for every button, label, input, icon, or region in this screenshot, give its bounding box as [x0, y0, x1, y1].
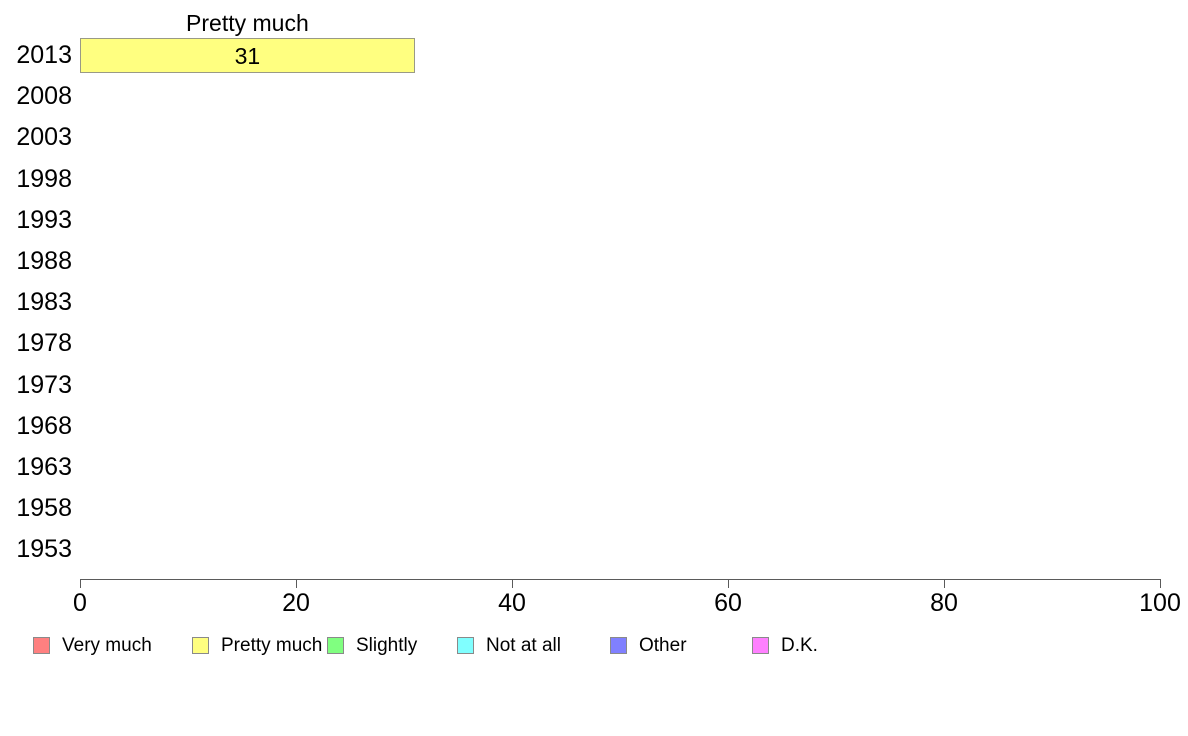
legend-item-d-k[interactable]: D.K. — [752, 630, 818, 660]
y-axis-label-1983: 1983 — [16, 290, 72, 315]
legend-item-not-at-all[interactable]: Not at all — [457, 630, 561, 660]
legend-swatch-icon — [752, 637, 769, 654]
x-tick-0 — [80, 579, 81, 588]
bar-value-label: 31 — [80, 45, 415, 68]
x-axis-line — [80, 579, 1161, 580]
y-axis-label-2003: 2003 — [16, 125, 72, 150]
legend-item-slightly[interactable]: Slightly — [327, 630, 417, 660]
x-tick-100 — [1160, 579, 1161, 588]
y-axis-label-1963: 1963 — [16, 455, 72, 480]
x-tick-80 — [944, 579, 945, 588]
y-axis-label-2013: 2013 — [16, 43, 72, 68]
x-tick-40 — [512, 579, 513, 588]
legend-swatch-icon — [33, 637, 50, 654]
legend-label: Pretty much — [221, 636, 322, 655]
x-tick-label-80: 80 — [930, 591, 958, 616]
x-tick-60 — [728, 579, 729, 588]
y-axis-label-1993: 1993 — [16, 208, 72, 233]
legend-swatch-icon — [192, 637, 209, 654]
legend-label: Very much — [62, 636, 152, 655]
legend-swatch-icon — [610, 637, 627, 654]
y-axis-label-1958: 1958 — [16, 496, 72, 521]
x-tick-label-60: 60 — [714, 591, 742, 616]
legend-item-other[interactable]: Other — [610, 630, 687, 660]
legend-label: Other — [639, 636, 687, 655]
y-axis-label-2008: 2008 — [16, 84, 72, 109]
x-tick-label-40: 40 — [498, 591, 526, 616]
legend-item-pretty-much[interactable]: Pretty much — [192, 630, 322, 660]
x-tick-label-0: 0 — [73, 591, 87, 616]
bar-chart: 2013200820031998199319881983197819731968… — [0, 0, 1188, 736]
y-axis-label-1998: 1998 — [16, 167, 72, 192]
legend-label: Not at all — [486, 636, 561, 655]
legend-swatch-icon — [327, 637, 344, 654]
series-title-label: Pretty much — [80, 12, 415, 35]
y-axis-label-1973: 1973 — [16, 373, 72, 398]
y-axis-label-1988: 1988 — [16, 249, 72, 274]
x-tick-20 — [296, 579, 297, 588]
chart-legend: Very muchPretty muchSlightlyNot at allOt… — [0, 630, 1188, 662]
plot-area: 2013200820031998199319881983197819731968… — [0, 0, 1188, 580]
legend-swatch-icon — [457, 637, 474, 654]
legend-label: D.K. — [781, 636, 818, 655]
y-axis-label-1953: 1953 — [16, 537, 72, 562]
legend-label: Slightly — [356, 636, 417, 655]
x-tick-label-20: 20 — [282, 591, 310, 616]
x-tick-label-100: 100 — [1139, 591, 1181, 616]
y-axis-label-1978: 1978 — [16, 331, 72, 356]
y-axis-label-1968: 1968 — [16, 414, 72, 439]
legend-item-very-much[interactable]: Very much — [33, 630, 152, 660]
